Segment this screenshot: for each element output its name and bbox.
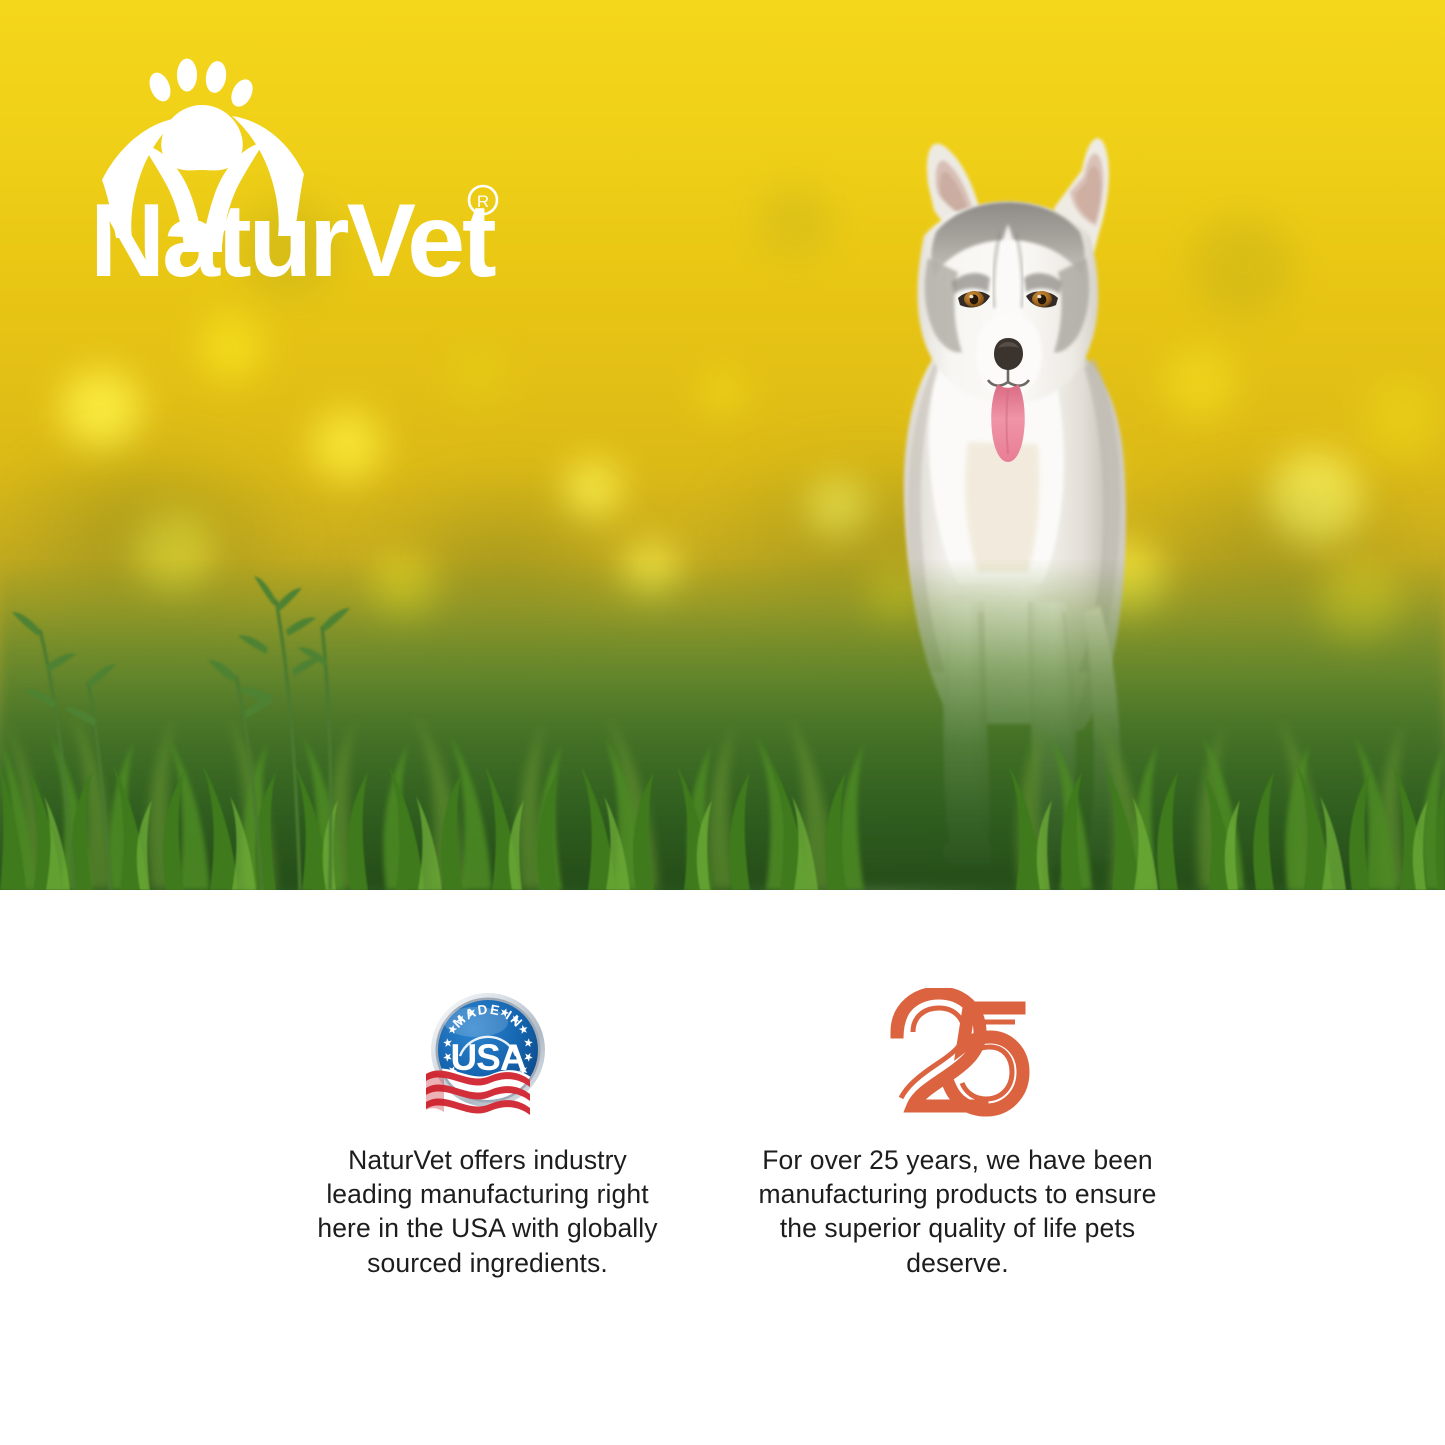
tall-weed-stalks [0, 560, 620, 890]
feature-description-25-years: For over 25 years, we have been manufact… [743, 1143, 1173, 1280]
25-numeral-icon [897, 993, 1023, 1110]
naturvet-brand-banner: NaturVet R [0, 0, 1445, 1445]
twenty-five-years-badge: 25 [883, 985, 1033, 1125]
hero-photo: NaturVet R [0, 0, 1445, 890]
made-in-usa-badge: MADE IN [408, 985, 568, 1125]
feature-description-usa: NaturVet offers industry leading manufac… [308, 1143, 668, 1280]
features-section: MADE IN [0, 890, 1445, 1445]
brand-wordmark: NaturVet [92, 183, 496, 292]
feature-25-years: 25 For over 25 years, we have been manuf… [723, 985, 1193, 1280]
foreground-grass [0, 560, 1445, 890]
naturvet-logo: NaturVet R [92, 52, 522, 292]
feature-made-in-usa: MADE IN [253, 985, 723, 1280]
svg-text:R: R [477, 192, 489, 211]
